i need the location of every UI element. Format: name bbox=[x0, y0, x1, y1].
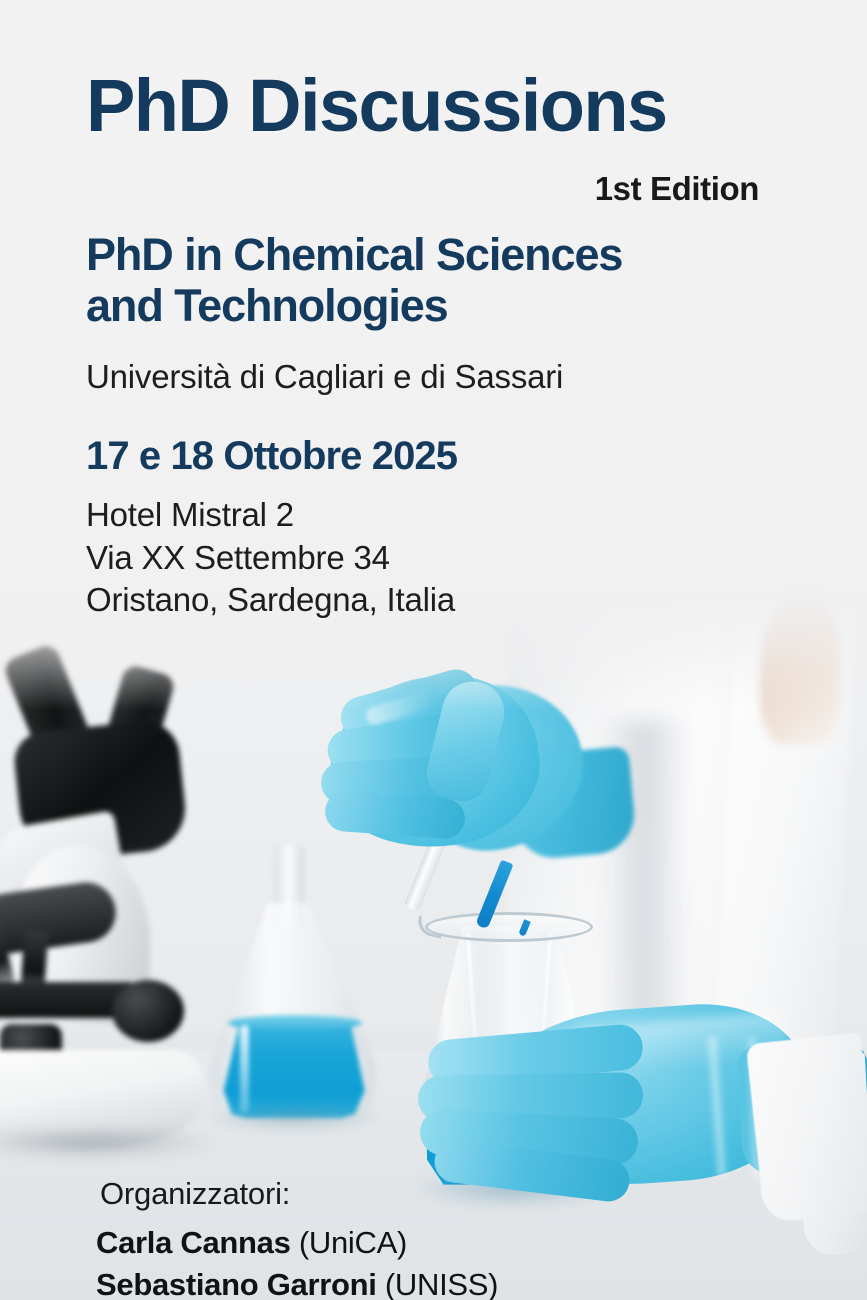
list-item: Carla Cannas (UniCA) bbox=[96, 1222, 498, 1264]
list-item: Sebastiano Garroni (UNISS) bbox=[96, 1264, 498, 1300]
organizer-name: Carla Cannas bbox=[96, 1225, 291, 1260]
organizer-name: Sebastiano Garroni bbox=[96, 1267, 377, 1300]
page-title: PhD Discussions bbox=[86, 68, 667, 143]
program-name-line2: and Technologies bbox=[86, 281, 806, 332]
poster-text-layer: PhD Discussions 1st Edition PhD in Chemi… bbox=[0, 0, 867, 1300]
venue-city: Oristano, Sardegna, Italia bbox=[86, 579, 455, 622]
edition-label: 1st Edition bbox=[595, 170, 759, 208]
venue-street: Via XX Settembre 34 bbox=[86, 537, 455, 580]
organizer-affiliation: (UniCA) bbox=[299, 1225, 407, 1260]
organizers-label: Organizzatori: bbox=[100, 1176, 290, 1212]
program-name: PhD in Chemical Sciences and Technologie… bbox=[86, 230, 806, 332]
poster-root: PhD Discussions 1st Edition PhD in Chemi… bbox=[0, 0, 867, 1300]
organizers-list: Carla Cannas (UniCA) Sebastiano Garroni … bbox=[96, 1222, 498, 1300]
venue-address: Hotel Mistral 2 Via XX Settembre 34 Oris… bbox=[86, 494, 455, 622]
program-name-line1: PhD in Chemical Sciences bbox=[86, 230, 806, 281]
event-dates: 17 e 18 Ottobre 2025 bbox=[86, 434, 457, 479]
organizer-affiliation: (UNISS) bbox=[385, 1267, 498, 1300]
universities-line: Università di Cagliari e di Sassari bbox=[86, 358, 563, 396]
venue-name: Hotel Mistral 2 bbox=[86, 494, 455, 537]
